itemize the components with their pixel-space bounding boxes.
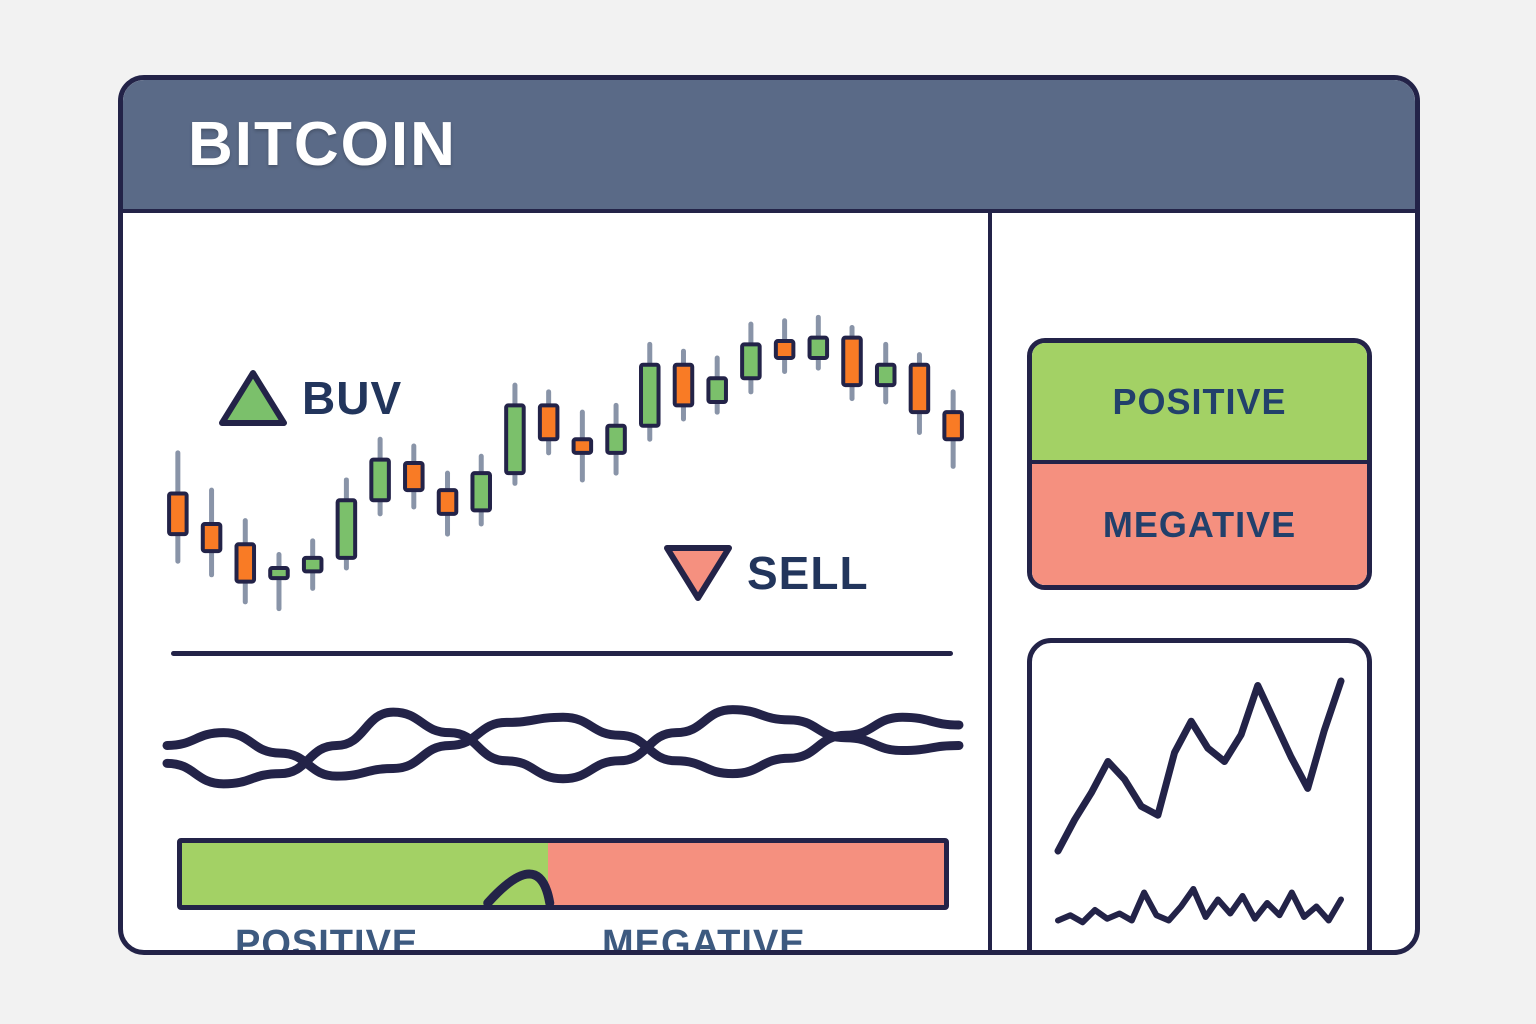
main-panel: BUV SELL — [123, 213, 988, 950]
sentiment-bar[interactable] — [177, 838, 949, 910]
sentiment-badge-group: POSITIVE MEGATIVE — [1027, 338, 1372, 590]
page-title: BITCOIN — [188, 109, 457, 180]
bitcoin-dashboard-card: BITCOIN BUV SELL — [118, 75, 1420, 955]
oscillator-chart — [153, 668, 973, 828]
card-body: BUV SELL — [123, 213, 1415, 950]
sentiment-bar-labels: POSITIVE MEGATIVE — [177, 923, 949, 955]
indicator-divider — [171, 651, 953, 656]
candlestick-chart — [143, 283, 988, 643]
sentiment-label-positive: POSITIVE — [235, 923, 418, 955]
card-header: BITCOIN — [123, 80, 1415, 213]
sentiment-marker-icon — [182, 843, 944, 905]
badge-positive[interactable]: POSITIVE — [1032, 343, 1367, 464]
mini-trend-card — [1027, 638, 1372, 955]
badge-negative[interactable]: MEGATIVE — [1032, 464, 1367, 585]
side-panel: POSITIVE MEGATIVE — [992, 213, 1415, 950]
sentiment-label-negative: MEGATIVE — [602, 923, 806, 955]
